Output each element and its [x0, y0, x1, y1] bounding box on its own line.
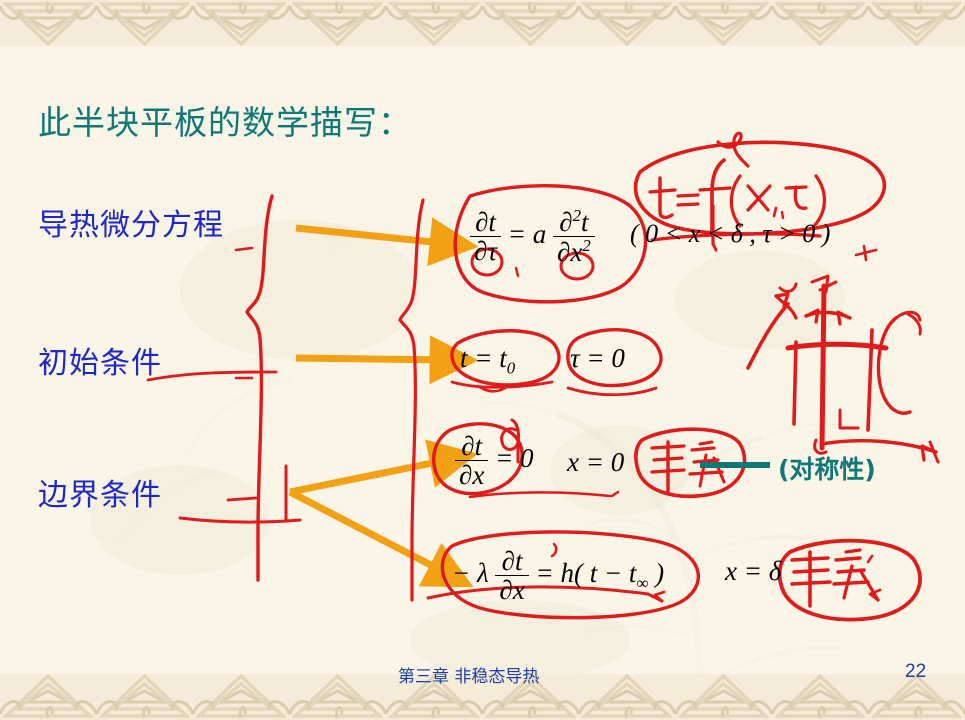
eq1-equals: =	[508, 219, 526, 249]
decorative-border-top	[0, 0, 965, 46]
eq1-den-symbol: ∂x	[557, 237, 582, 267]
eq1-rhs-denominator: ∂x2	[553, 236, 595, 266]
equation-convective-bc: − λ ∂t ∂x = h( t − t∞ )	[452, 547, 664, 605]
footer-chapter-title: 第三章 非稳态导热	[398, 662, 539, 687]
page-title: 此半块平板的数学描写：	[38, 96, 412, 144]
label-governing-equation: 导热微分方程	[38, 200, 224, 244]
eq1-coefficient: a	[533, 219, 547, 249]
equation-symmetry-bc: ∂t ∂x = 0	[455, 432, 534, 490]
eq1-order-exponent: 2	[573, 206, 581, 225]
eq4-denominator: ∂x	[495, 575, 528, 604]
eq3-fraction: ∂t ∂x	[455, 432, 488, 490]
eq1-lhs-numerator: ∂t	[470, 208, 501, 236]
eq1-rhs-numerator: ∂2t	[553, 207, 595, 236]
label-initial-condition: 初始条件	[38, 338, 162, 382]
eq3-equals-zero: = 0	[495, 443, 533, 473]
eq2-tau: τ = 0	[570, 343, 625, 373]
footer-page-number: 22	[905, 661, 926, 683]
symmetry-note: (对称性)	[778, 450, 876, 486]
eq4-numerator: ∂t	[495, 547, 528, 575]
eq4-infinity-subscript: ∞	[636, 573, 648, 592]
eq1-lhs-fraction: ∂t ∂τ	[470, 208, 501, 266]
eq4-rhs: = h( t − t	[536, 558, 637, 588]
equation-heat-diffusion-domain: ( 0 < x < δ , τ > 0 )	[630, 219, 830, 249]
eq1-partial-symbol: ∂	[559, 207, 572, 237]
eq1-variable: t	[581, 207, 589, 237]
eq3-denominator: ∂x	[455, 460, 488, 489]
eq2-subscript: 0	[507, 358, 515, 377]
eq4-lead: − λ	[452, 558, 489, 588]
eq2-lhs: t = t	[460, 343, 507, 373]
presentation-slide: 此半块平板的数学描写： 导热微分方程 初始条件 边界条件 ∂t ∂τ = a ∂…	[0, 0, 965, 720]
eq4-rhs-tail: )	[648, 558, 664, 588]
equation-convective-location: x = δ	[725, 556, 781, 587]
equation-heat-diffusion: ∂t ∂τ = a ∂2t ∂x2	[470, 207, 595, 267]
eq1-den-exponent: 2	[582, 236, 590, 255]
equation-symmetry-location: x = 0	[567, 447, 624, 478]
eq3-numerator: ∂t	[455, 432, 488, 460]
eq4-fraction: ∂t ∂x	[495, 547, 528, 605]
eq1-lhs-denominator: ∂τ	[470, 236, 501, 265]
label-boundary-condition: 边界条件	[38, 470, 162, 514]
equation-initial-condition: t = t0	[460, 343, 515, 378]
eq1-rhs-fraction: ∂2t ∂x2	[553, 207, 595, 267]
equation-initial-time: τ = 0	[570, 343, 625, 374]
